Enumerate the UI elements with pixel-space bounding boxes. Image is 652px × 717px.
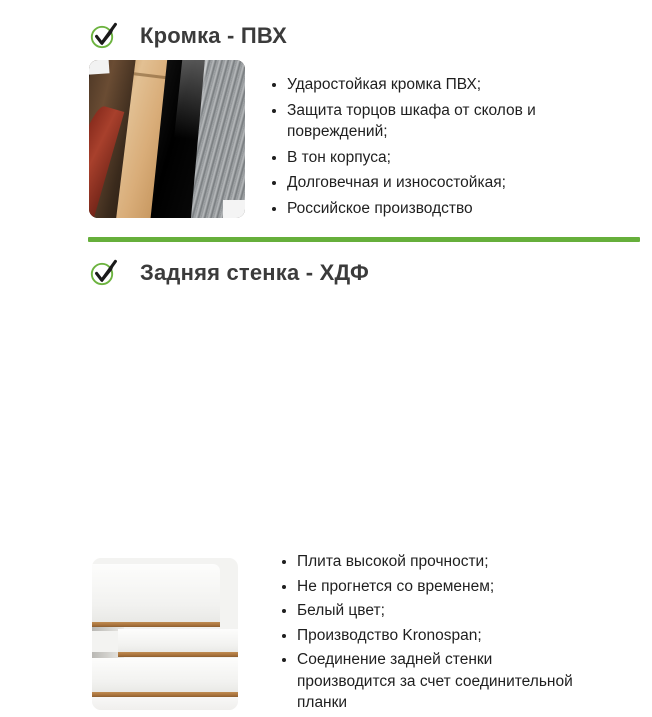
list-item: Защита торцов шкафа от сколов и поврежде… — [272, 100, 572, 143]
list-item: Долговечная и износостойкая; — [272, 172, 572, 194]
green-section-divider — [88, 237, 640, 242]
section-pvc-edge: Кромка - ПВХ Ударостойкая кромка ПВХ; За… — [0, 0, 652, 232]
list-item: Производство Kronospan; — [282, 625, 582, 647]
green-check-circle-icon — [89, 21, 119, 51]
section-title-hdf: Задняя стенка - ХДФ — [140, 262, 369, 284]
page-title: Кромка - ПВХ — [140, 25, 287, 47]
list-item: Соединение задней стенки производится за… — [282, 649, 582, 714]
hdf-white-boards-photo — [92, 558, 238, 710]
list-item: В тон корпуса; — [272, 147, 572, 169]
section-heading-row-hdf: Задняя стенка - ХДФ — [89, 256, 369, 290]
product-features-page: Кромка - ПВХ Ударостойкая кромка ПВХ; За… — [0, 0, 652, 500]
list-item: Ударостойкая кромка ПВХ; — [272, 74, 572, 96]
green-check-circle-icon — [89, 258, 119, 288]
list-item: Не прогнется со временем; — [282, 576, 582, 598]
list-item: Белый цвет; — [282, 600, 582, 622]
feature-list-hdf: Плита высокой прочности; Не прогнется со… — [282, 551, 582, 717]
pvc-edge-banding-rolls-photo — [89, 60, 245, 218]
feature-list-pvc-edge: Ударостойкая кромка ПВХ; Защита торцов ш… — [272, 74, 572, 223]
list-item: Плита высокой прочности; — [282, 551, 582, 573]
section-heading-row-pvc-edge: Кромка - ПВХ — [89, 19, 287, 53]
section-hdf-back-panel: Задняя стенка - ХДФ Плита высокой прочно… — [0, 248, 652, 500]
list-item: Российское производство — [272, 198, 572, 220]
